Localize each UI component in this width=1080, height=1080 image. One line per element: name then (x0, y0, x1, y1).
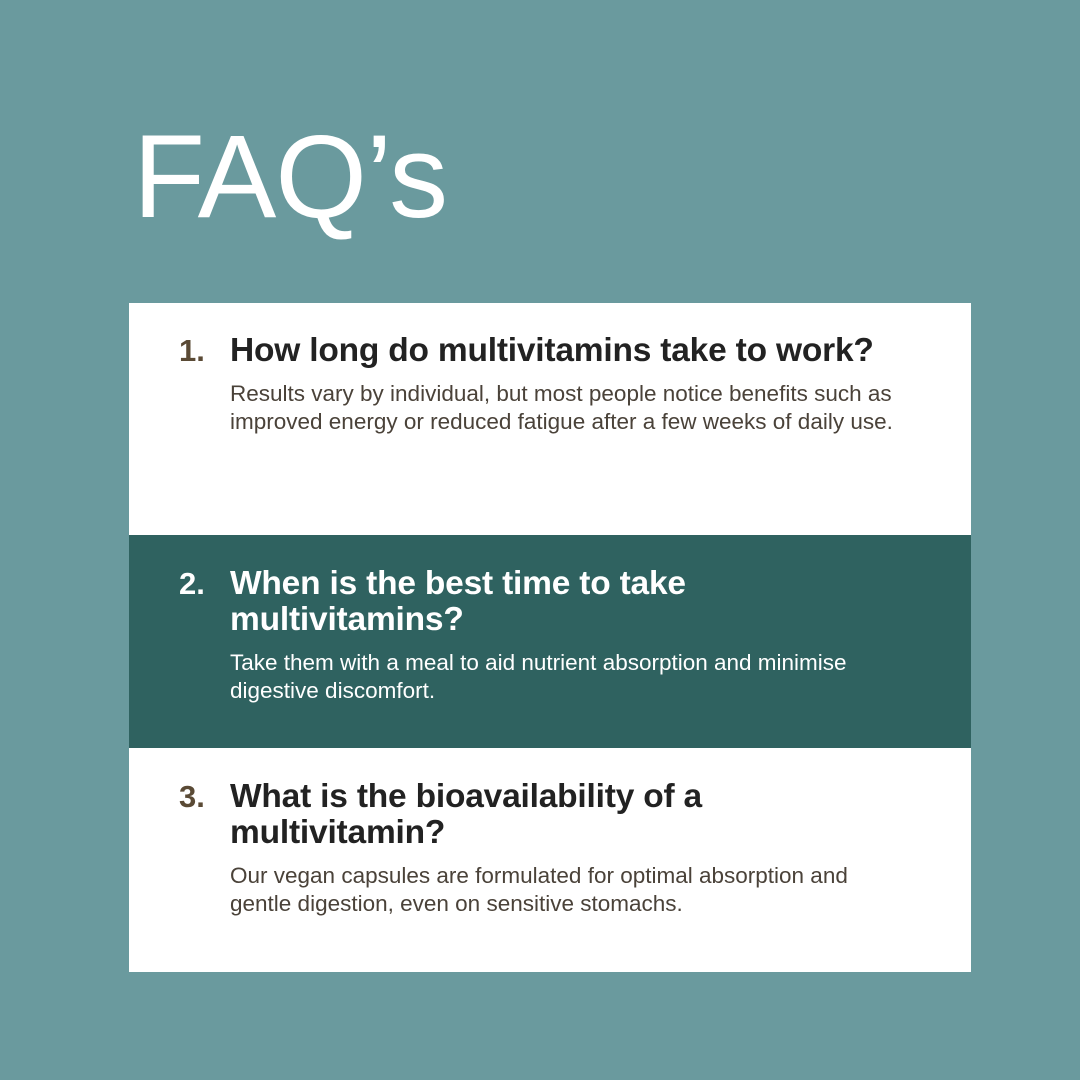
faq-item-body: When is the best time to take multivitam… (230, 566, 896, 704)
faq-item-1[interactable]: 1. How long do multivitamins take to wor… (129, 303, 971, 535)
faq-question: What is the bioavailability of a multivi… (230, 779, 896, 851)
faq-card: 1. How long do multivitamins take to wor… (129, 303, 971, 972)
faq-item-number: 1. (179, 333, 230, 369)
faq-answer: Results vary by individual, but most peo… (230, 380, 896, 435)
faq-item-body: How long do multivitamins take to work? … (230, 333, 896, 435)
faq-item-number: 3. (179, 779, 230, 815)
faq-item-number: 2. (179, 566, 230, 602)
faq-item-2[interactable]: 2. When is the best time to take multivi… (129, 535, 971, 748)
faq-answer: Take them with a meal to aid nutrient ab… (230, 649, 896, 704)
faq-item-3[interactable]: 3. What is the bioavailability of a mult… (129, 748, 971, 972)
faq-question: How long do multivitamins take to work? (230, 333, 896, 369)
faq-item-body: What is the bioavailability of a multivi… (230, 779, 896, 917)
faq-answer: Our vegan capsules are formulated for op… (230, 862, 896, 917)
faq-question: When is the best time to take multivitam… (230, 566, 896, 638)
page-title: FAQ’s (133, 118, 447, 236)
